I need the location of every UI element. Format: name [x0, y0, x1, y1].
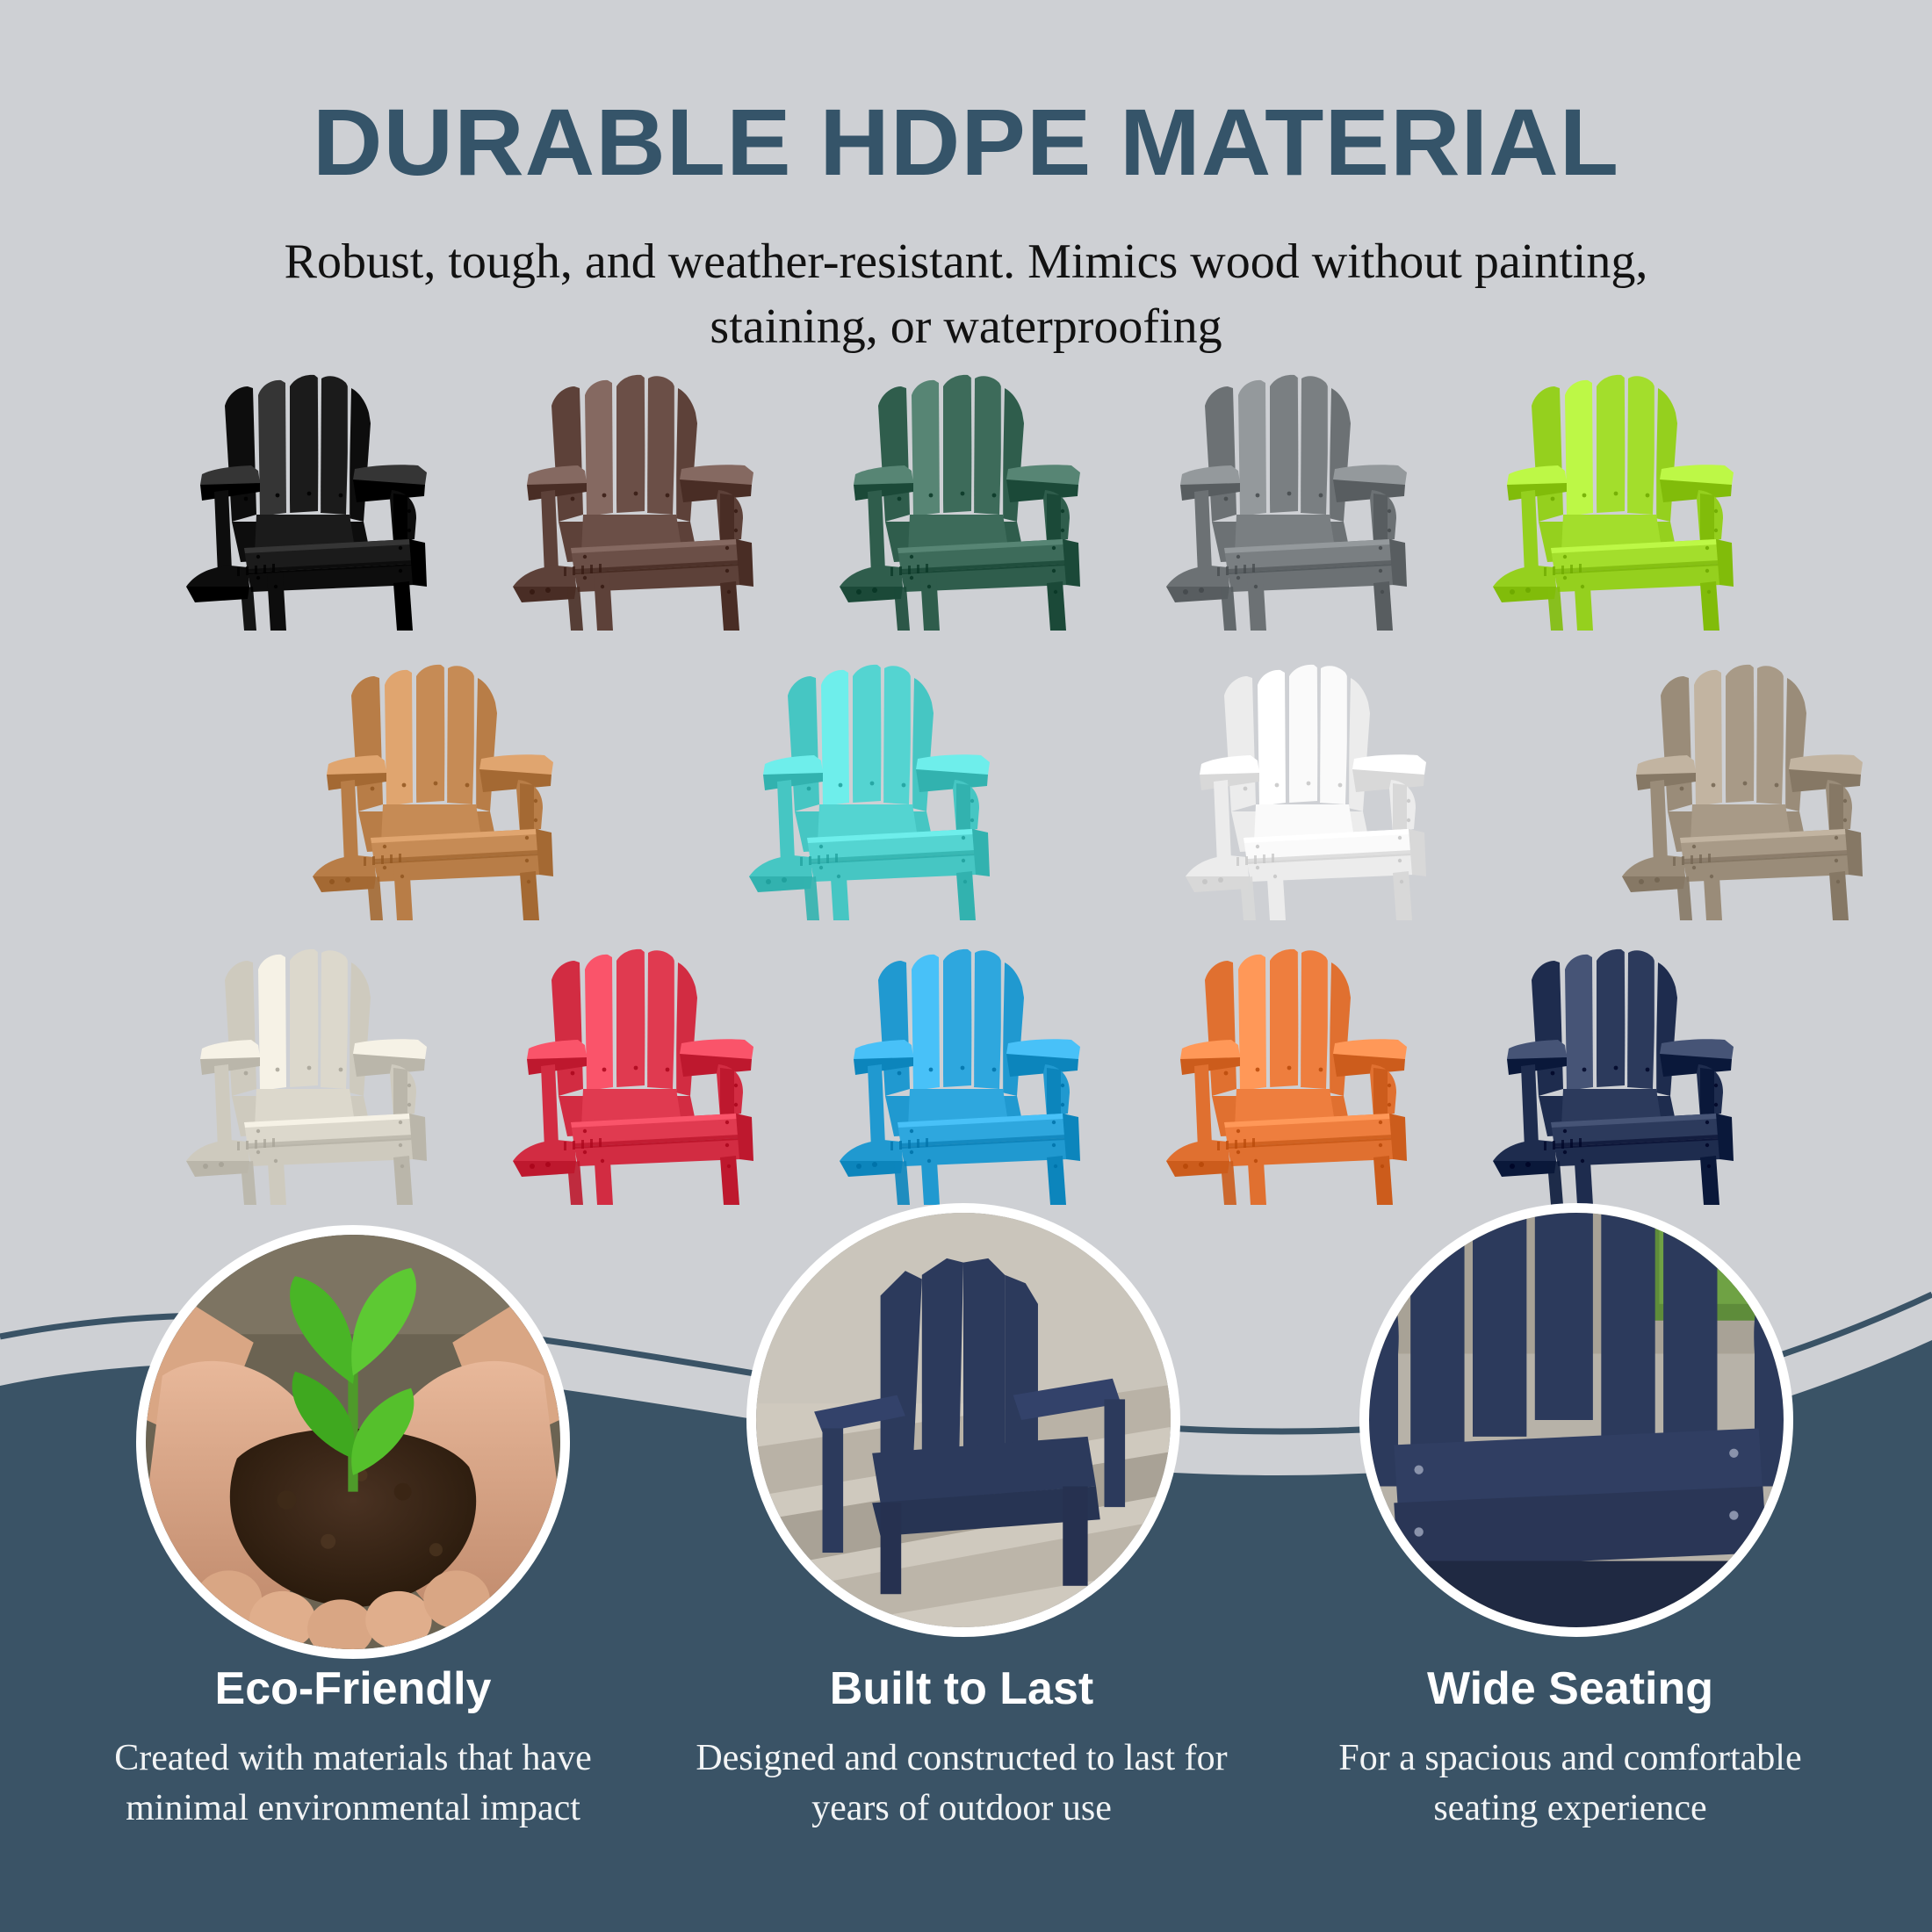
hands-holding-seedling-icon [146, 1235, 560, 1649]
navy-chair-patio-icon [756, 1213, 1171, 1627]
chair-swatch-turquoise[interactable] [746, 657, 1009, 920]
chair-swatch-red[interactable] [509, 941, 773, 1205]
chair-row-3 [0, 941, 1932, 1205]
feature-caption-eco-friendly: Eco-Friendly Created with materials that… [72, 1664, 634, 1834]
adirondack-chair-svg [1489, 367, 1753, 631]
adirondack-chair-svg [509, 941, 773, 1205]
adirondack-chair-svg [1182, 657, 1445, 920]
adirondack-chair-svg [183, 941, 446, 1205]
feature-description: For a spacious and comfortable seating e… [1289, 1734, 1851, 1834]
adirondack-chair-svg [1163, 367, 1426, 631]
navy-chair-wide-seat-icon [1369, 1213, 1784, 1627]
adirondack-chair-svg [746, 657, 1009, 920]
feature-title: Wide Seating [1289, 1664, 1851, 1714]
adirondack-chair-svg [836, 367, 1099, 631]
chair-row-1 [0, 367, 1932, 631]
adirondack-chair-svg [183, 367, 446, 631]
feature-image-wide-seating [1359, 1203, 1793, 1637]
page-subtitle: Robust, tough, and weather-resistant. Mi… [281, 230, 1651, 360]
adirondack-chair-svg [1618, 657, 1882, 920]
chair-swatch-brown[interactable] [509, 367, 773, 631]
adirondack-chair-svg [1489, 941, 1753, 1205]
chair-swatch-navy-blue[interactable] [1489, 941, 1753, 1205]
chair-row-2 [0, 657, 1932, 920]
chair-swatch-black[interactable] [183, 367, 446, 631]
feature-title: Built to Last [681, 1664, 1243, 1714]
adirondack-chair-svg [509, 367, 773, 631]
chair-swatch-ivory[interactable] [183, 941, 446, 1205]
chair-swatch-light-blue[interactable] [836, 941, 1099, 1205]
feature-description: Created with materials that have minimal… [72, 1734, 634, 1834]
feature-title: Eco-Friendly [72, 1664, 634, 1714]
adirondack-chair-svg [309, 657, 573, 920]
feature-caption-built-to-last: Built to Last Designed and constructed t… [681, 1664, 1243, 1834]
feature-caption-wide-seating: Wide Seating For a spacious and comforta… [1289, 1664, 1851, 1834]
chair-swatch-teak[interactable] [309, 657, 573, 920]
chair-swatch-weathered-wood[interactable] [1618, 657, 1882, 920]
chair-swatch-dark-green[interactable] [836, 367, 1099, 631]
chair-swatch-lime-green[interactable] [1489, 367, 1753, 631]
chair-swatch-white[interactable] [1182, 657, 1445, 920]
adirondack-chair-svg [1163, 941, 1426, 1205]
page-title: DURABLE HDPE MATERIAL [0, 0, 1932, 190]
chair-swatch-gray[interactable] [1163, 367, 1426, 631]
adirondack-chair-svg [836, 941, 1099, 1205]
marketing-infographic: DURABLE HDPE MATERIAL Robust, tough, and… [0, 0, 1932, 1932]
feature-description: Designed and constructed to last for yea… [681, 1734, 1243, 1834]
feature-image-eco-friendly [136, 1225, 570, 1659]
feature-image-built-to-last [746, 1203, 1180, 1637]
chair-swatch-orange[interactable] [1163, 941, 1426, 1205]
header: DURABLE HDPE MATERIAL Robust, tough, and… [0, 0, 1932, 360]
